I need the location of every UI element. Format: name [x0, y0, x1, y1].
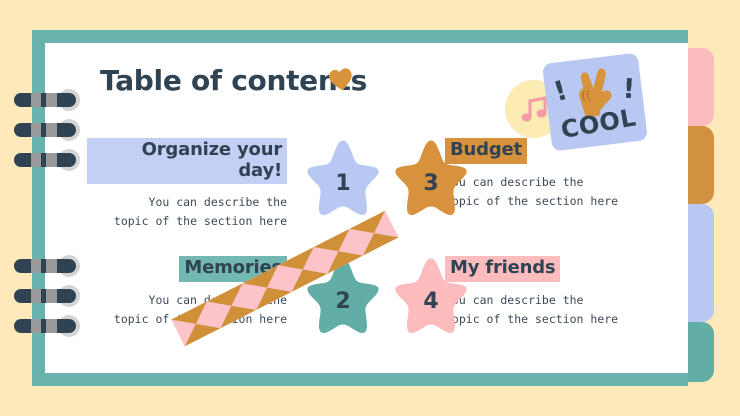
star-badge-3: 3 — [389, 137, 473, 221]
exclamation-right-icon: ! — [622, 75, 636, 103]
section-4: My friends You can describe the topic of… — [445, 256, 645, 329]
section-4-body-line2: topic of the section here — [445, 310, 645, 329]
star-number-4: 4 — [389, 255, 473, 339]
section-1-body: You can describe the topic of the sectio… — [87, 193, 287, 231]
page-title: Table of contents — [100, 64, 367, 97]
star-badge-4: 4 — [389, 255, 473, 339]
notebook-page: Table of contents — [45, 43, 688, 373]
star-badge-1: 1 — [301, 137, 385, 221]
section-4-body-line1: You can describe the — [445, 291, 645, 310]
section-1-body-line1: You can describe the — [87, 193, 287, 212]
heart-icon — [328, 67, 354, 93]
section-3: Budget You can describe the topic of the… — [445, 138, 645, 211]
star-number-3: 3 — [389, 137, 473, 221]
section-3-body: You can describe the topic of the sectio… — [445, 173, 645, 211]
section-1: Organize your day! You can describe the … — [87, 138, 287, 231]
section-1-body-line2: topic of the section here — [87, 212, 287, 231]
section-3-body-line1: You can describe the — [445, 173, 645, 192]
cool-sticker-card: ! ! COOL — [542, 52, 648, 151]
section-1-heading: Organize your day! — [87, 138, 287, 184]
slide-canvas: Table of contents — [0, 0, 740, 416]
section-4-body: You can describe the topic of the sectio… — [445, 291, 645, 329]
star-number-1: 1 — [301, 137, 385, 221]
page-content: Table of contents — [45, 43, 688, 373]
section-3-body-line2: topic of the section here — [445, 192, 645, 211]
